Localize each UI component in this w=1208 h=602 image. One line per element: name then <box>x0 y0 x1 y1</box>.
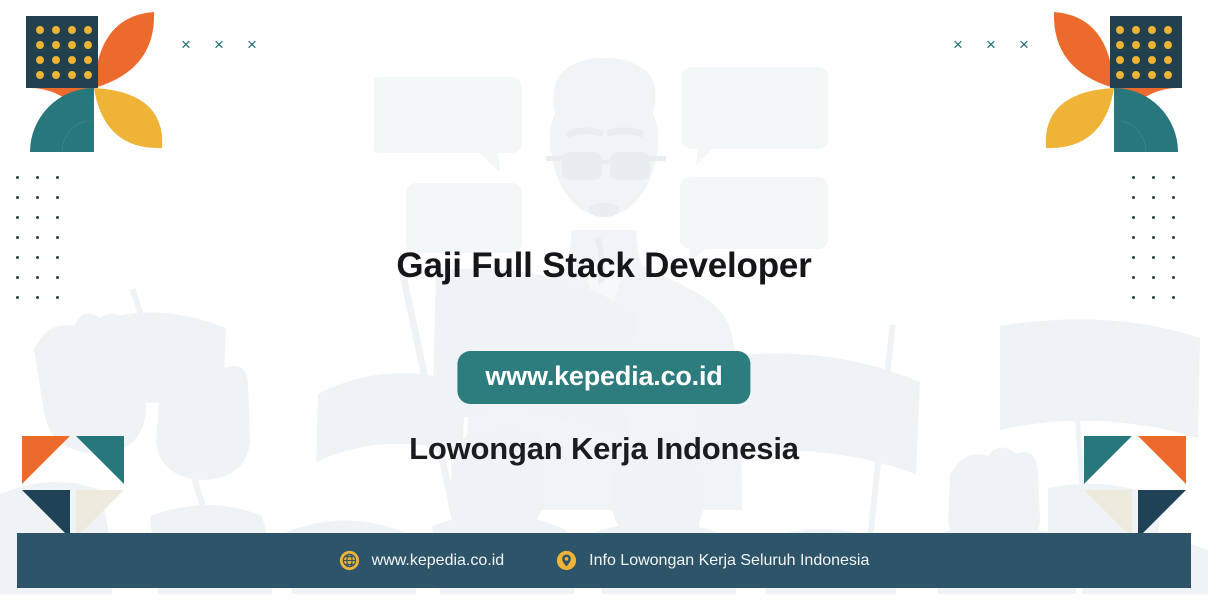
footer-tagline-label: Info Lowongan Kerja Seluruh Indonesia <box>589 552 869 570</box>
url-badge[interactable]: www.kepedia.co.id <box>457 351 750 404</box>
location-pin-icon <box>556 550 577 571</box>
poster-canvas: × × × × × × Gaji Full Stack Developer ww… <box>0 0 1208 602</box>
page-subtitle: Lowongan Kerja Indonesia <box>0 431 1208 467</box>
footer-website[interactable]: www.kepedia.co.id <box>339 550 505 571</box>
page-title: Gaji Full Stack Developer <box>0 246 1208 286</box>
poster-content: Gaji Full Stack Developer www.kepedia.co… <box>0 0 1208 602</box>
footer-tagline: Info Lowongan Kerja Seluruh Indonesia <box>556 550 869 571</box>
footer-website-label: www.kepedia.co.id <box>372 552 505 570</box>
footer-bar: www.kepedia.co.id Info Lowongan Kerja Se… <box>17 533 1191 588</box>
globe-icon <box>339 550 360 571</box>
